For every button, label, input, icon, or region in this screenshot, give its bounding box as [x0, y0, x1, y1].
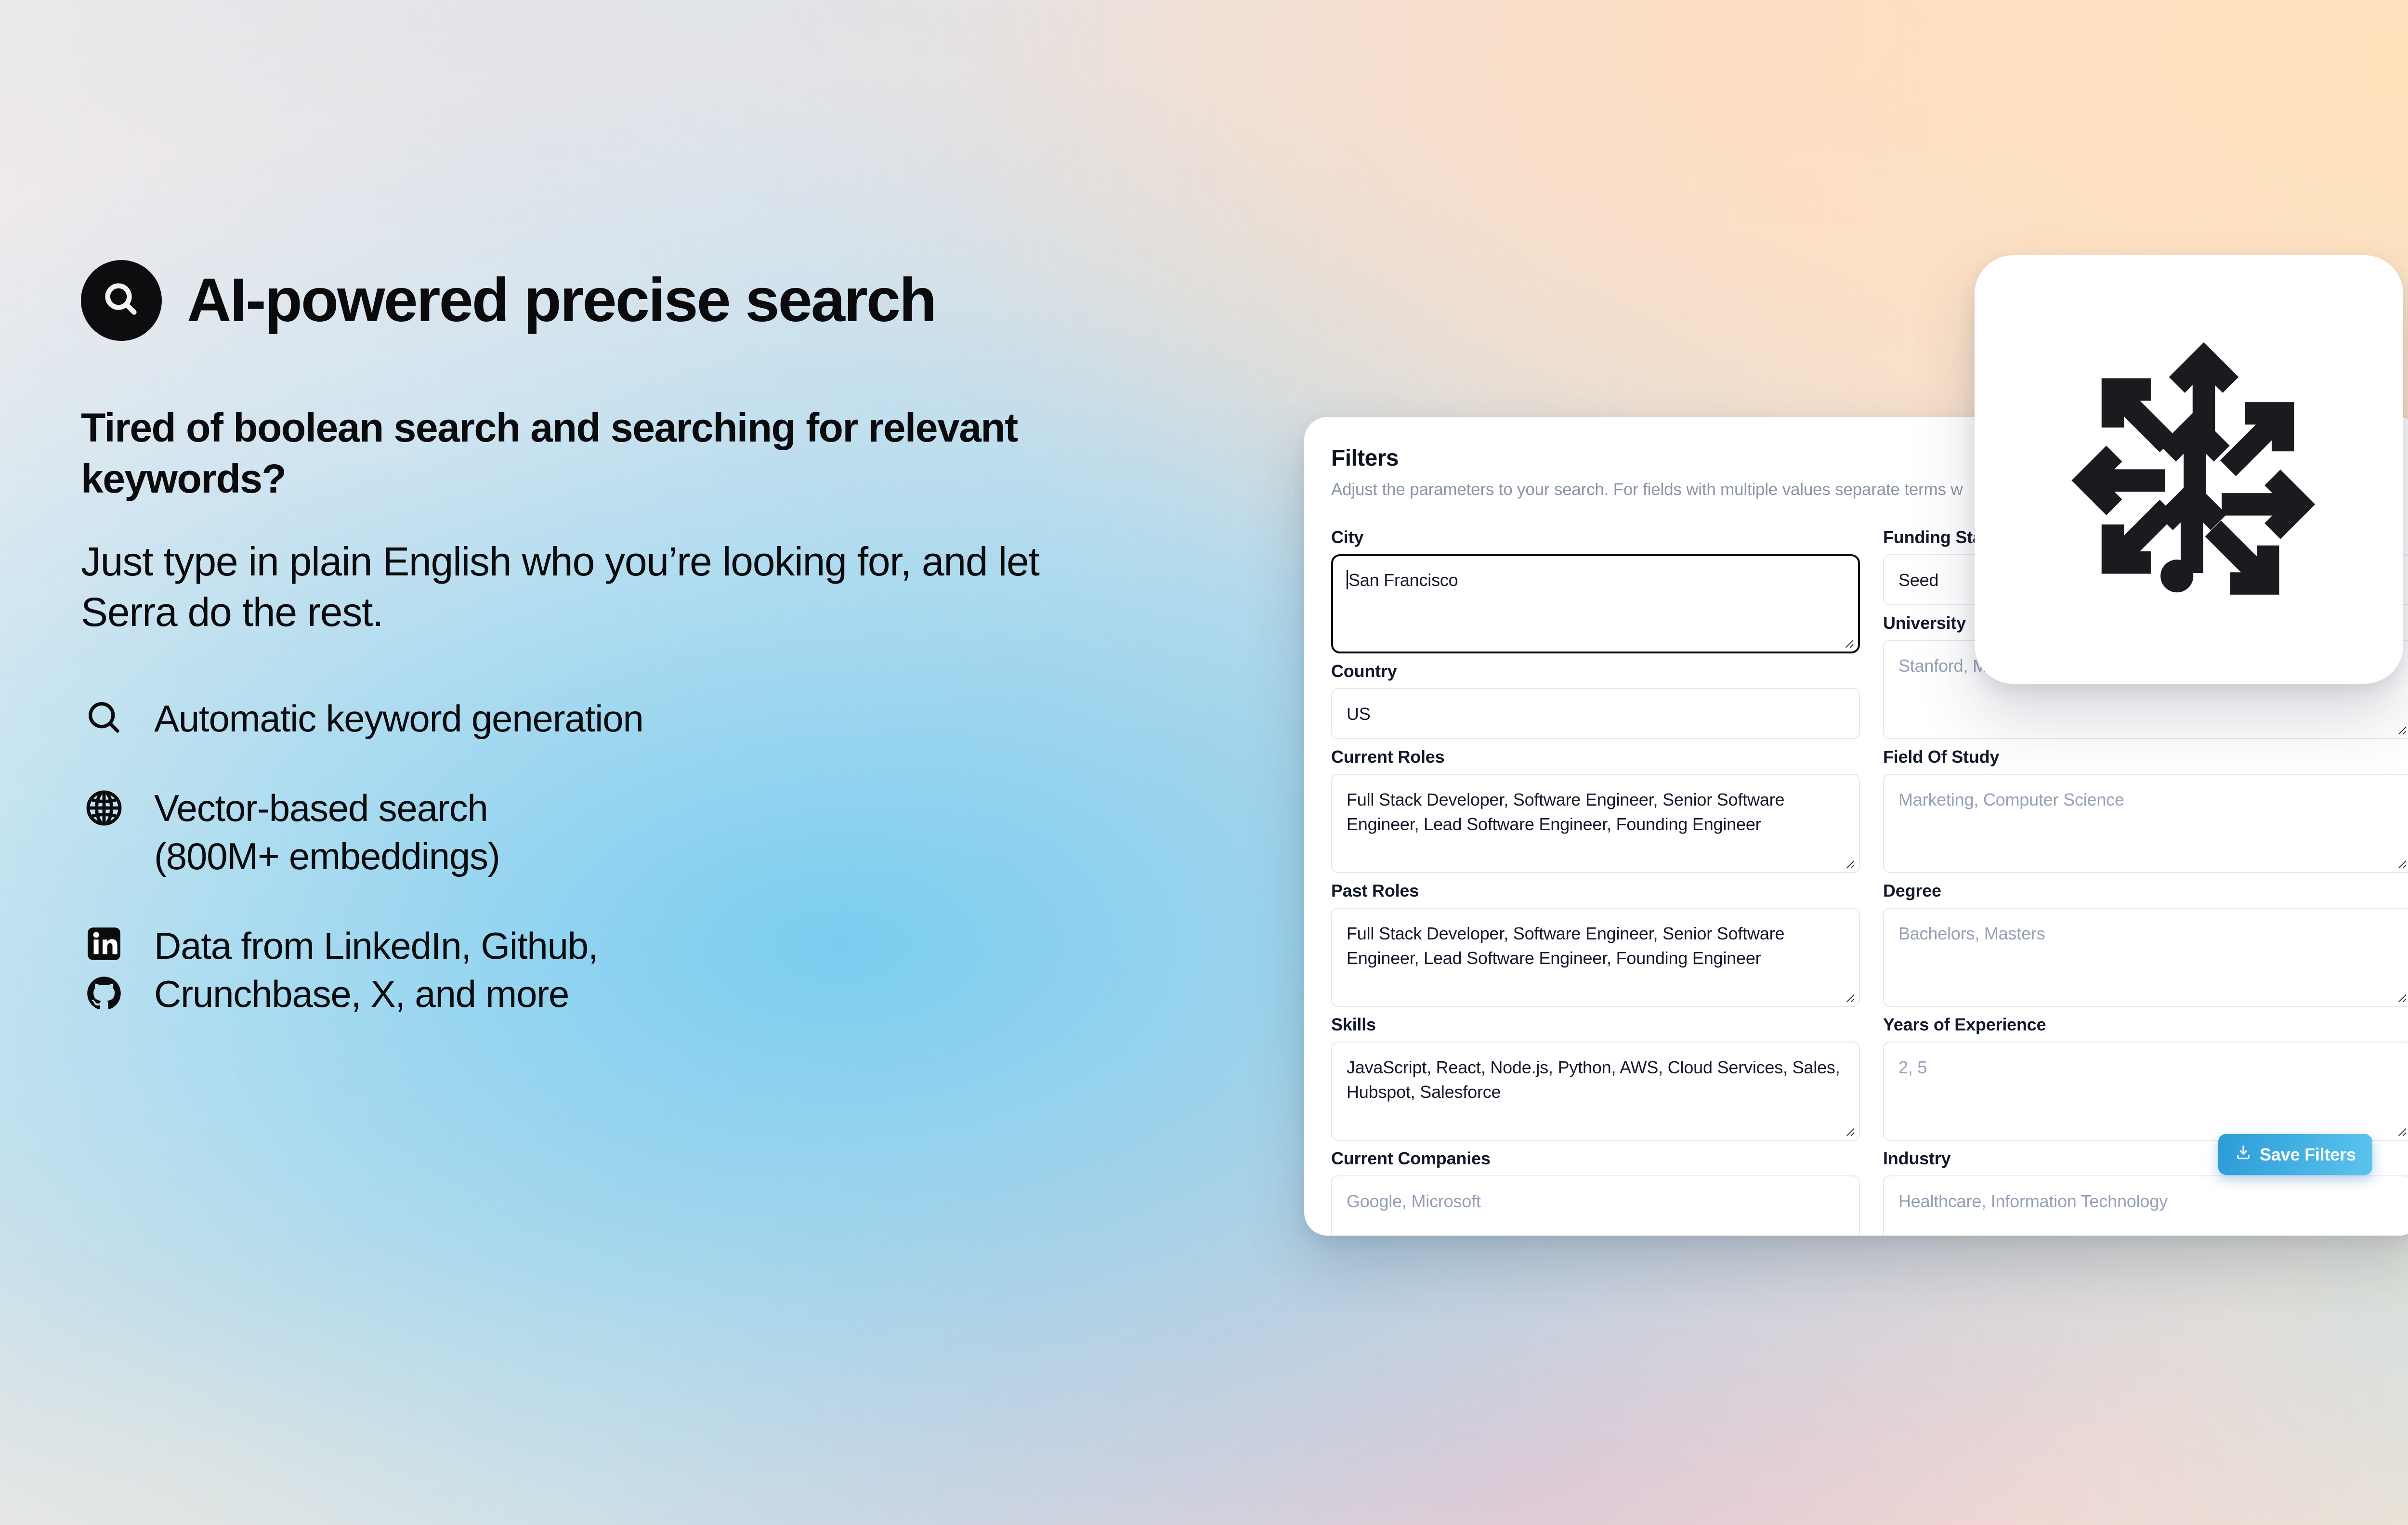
field-value-past-roles: Full Stack Developer, Software Engineer,…	[1347, 924, 1784, 968]
field-label-years-of-experience: Years of Experience	[1883, 1015, 2408, 1035]
page-title: AI-powered precise search	[187, 268, 935, 333]
globe-icon	[83, 787, 125, 831]
field-input-current-companies[interactable]: Google, Microsoft	[1331, 1175, 1860, 1236]
field-input-years-of-experience[interactable]: 2, 5	[1883, 1042, 2408, 1141]
hero-title-row: AI-powered precise search	[81, 260, 1189, 341]
field-placeholder-field-of-study: Marketing, Computer Science	[1898, 790, 2124, 809]
feature-item-data-sources: Data from LinkedIn, Github, Crunchbase, …	[81, 922, 1189, 1018]
field-input-city[interactable]: San Francisco	[1331, 554, 1860, 653]
field-value-city: San Francisco	[1348, 570, 1458, 590]
field-input-field-of-study[interactable]: Marketing, Computer Science	[1883, 774, 2408, 873]
field-input-country[interactable]: US	[1331, 688, 1860, 739]
field-value-country: US	[1347, 704, 1371, 724]
field-label-degree: Degree	[1883, 881, 2408, 901]
search-icon	[84, 698, 124, 740]
field-label-past-roles: Past Roles	[1331, 881, 1860, 901]
resize-grip-icon[interactable]	[2395, 1124, 2407, 1137]
feature-item-keyword-generation: Automatic keyword generation	[81, 695, 1189, 743]
field-placeholder-current-companies: Google, Microsoft	[1347, 1191, 1481, 1211]
field-value-current-roles: Full Stack Developer, Software Engineer,…	[1347, 790, 1784, 834]
save-filters-label: Save Filters	[2260, 1145, 2356, 1165]
resize-grip-icon[interactable]	[2395, 857, 2407, 869]
hero-column: AI-powered precise search Tired of boole…	[81, 260, 1189, 1059]
field-label-country: Country	[1331, 661, 1860, 681]
field-label-city: City	[1331, 527, 1860, 547]
hero-lead-bold: Tired of boolean search and searching fo…	[81, 403, 1073, 505]
field-input-industry[interactable]: Healthcare, Information Technology	[1883, 1175, 2408, 1236]
serra-arrows-logo	[2040, 319, 2338, 620]
serra-logo-card	[1975, 255, 2403, 684]
field-value-skills: JavaScript, React, Node.js, Python, AWS,…	[1347, 1057, 1840, 1102]
field-label-current-companies: Current Companies	[1331, 1148, 1860, 1169]
save-filters-button[interactable]: Save Filters	[2218, 1134, 2372, 1175]
text-caret	[1347, 570, 1348, 589]
resize-grip-icon[interactable]	[2395, 723, 2407, 735]
search-badge	[81, 260, 162, 341]
filters-left-column: City San Francisco Country US Current Ro…	[1331, 527, 1860, 1236]
linkedin-icon	[85, 925, 123, 965]
search-icon	[98, 276, 144, 325]
hero-lead-normal: Just type in plain English who you’re lo…	[81, 536, 1073, 639]
feature-label: Data from LinkedIn, Github, Crunchbase, …	[154, 922, 598, 1018]
feature-label: Automatic keyword generation	[154, 695, 643, 743]
feature-icon-group	[81, 784, 127, 831]
feature-item-vector-search: Vector-based search (800M+ embeddings)	[81, 784, 1189, 881]
feature-icon-group	[81, 922, 127, 1015]
field-input-current-roles[interactable]: Full Stack Developer, Software Engineer,…	[1331, 774, 1860, 873]
resize-grip-icon[interactable]	[1842, 636, 1854, 649]
field-input-skills[interactable]: JavaScript, React, Node.js, Python, AWS,…	[1331, 1042, 1860, 1141]
feature-icon-group	[81, 695, 127, 740]
resize-grip-icon[interactable]	[2395, 991, 2407, 1003]
field-label-field-of-study: Field Of Study	[1883, 747, 2408, 767]
field-placeholder-degree: Bachelors, Masters	[1898, 924, 2045, 943]
field-value-funding-stage: Seed	[1898, 570, 1938, 590]
github-icon	[85, 975, 123, 1015]
field-placeholder-industry: Healthcare, Information Technology	[1898, 1191, 2168, 1211]
field-label-current-roles: Current Roles	[1331, 747, 1860, 767]
field-input-degree[interactable]: Bachelors, Masters	[1883, 908, 2408, 1007]
download-icon	[2235, 1144, 2252, 1165]
resize-grip-icon[interactable]	[1843, 1124, 1855, 1137]
resize-grip-icon[interactable]	[1843, 991, 1855, 1003]
resize-grip-icon[interactable]	[1843, 857, 1855, 869]
feature-label: Vector-based search (800M+ embeddings)	[154, 784, 500, 881]
field-label-skills: Skills	[1331, 1015, 1860, 1035]
field-placeholder-years-of-experience: 2, 5	[1898, 1057, 1927, 1077]
field-input-past-roles[interactable]: Full Stack Developer, Software Engineer,…	[1331, 908, 1860, 1007]
